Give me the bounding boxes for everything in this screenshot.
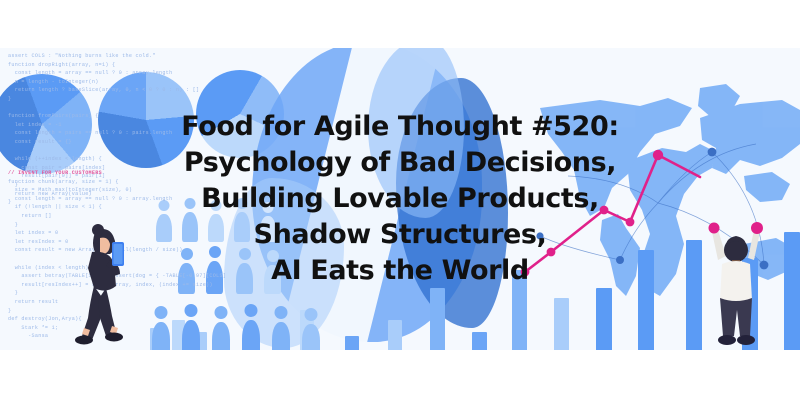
person-arms-raised-figure: [700, 204, 772, 350]
line-chart-point: [600, 206, 609, 215]
line-chart-point: [626, 218, 635, 227]
banner-image: assert COLS : "Nothing burns like the co…: [0, 48, 800, 350]
person-with-phone-figure: [66, 224, 138, 350]
line-chart-point: [653, 150, 663, 160]
line-chart-point: [521, 268, 530, 277]
line-chart-point: [547, 248, 556, 257]
